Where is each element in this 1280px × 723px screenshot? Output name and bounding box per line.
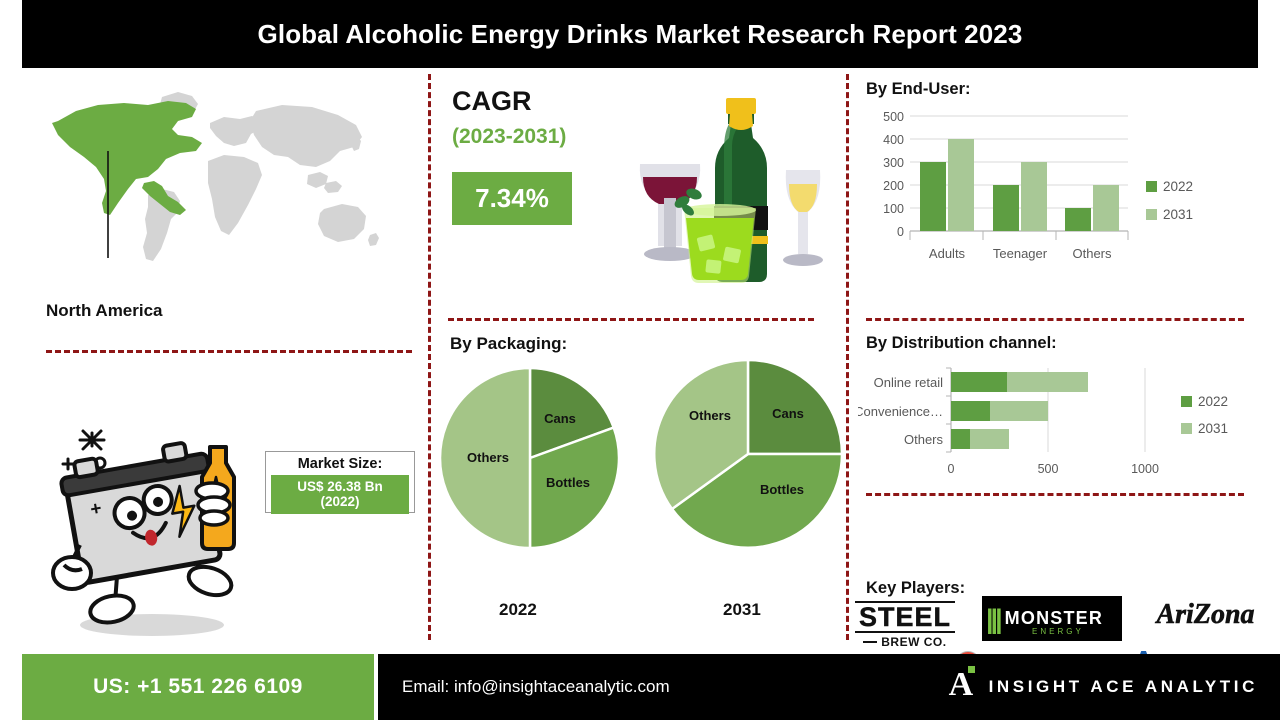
horizontal-divider-left xyxy=(46,350,412,353)
dist-legend-label-2022: 2022 xyxy=(1198,394,1228,409)
pie-2031-label-cans: Cans xyxy=(772,406,804,421)
dist-bar-online-2031 xyxy=(1007,372,1088,392)
pie-2031-label-others: Others xyxy=(689,408,731,423)
footer-email: Email: info@insightaceanalytic.com xyxy=(402,677,670,697)
market-size-value: US$ 26.38 Bn (2022) xyxy=(271,475,409,514)
brand-dot-icon xyxy=(968,666,975,673)
market-size-amount: US$ 26.38 Bn xyxy=(297,479,383,494)
footer-brand: A INSIGHT ACE ANALYTIC xyxy=(949,668,1258,706)
alcoholic-drinks-icon xyxy=(620,78,835,308)
vertical-divider-left xyxy=(428,74,431,640)
end-user-ytick-100: 100 xyxy=(883,202,904,216)
infographic-body: North America xyxy=(0,68,1280,654)
end-user-category-teenager: Teenager xyxy=(993,246,1048,261)
end-user-bar-adults-2031 xyxy=(948,139,974,231)
dist-bar-others-2022 xyxy=(951,429,970,449)
end-user-bar-teenager-2022 xyxy=(993,185,1019,231)
end-user-category-others: Others xyxy=(1072,246,1112,261)
packaging-2031-pie-chart: Cans Bottles Others xyxy=(652,358,844,550)
dist-bar-online-2022 xyxy=(951,372,1007,392)
logo-steel-name: STEEL xyxy=(855,601,955,633)
packaging-2031-year: 2031 xyxy=(723,600,761,620)
dist-xtick-0: 0 xyxy=(948,462,955,476)
dist-legend-swatch-2022 xyxy=(1181,396,1192,407)
logo-arizona-name: AriZona xyxy=(1138,599,1273,631)
pie-2022-label-others: Others xyxy=(467,450,509,465)
infographic-page: Global Alcoholic Energy Drinks Market Re… xyxy=(0,0,1280,720)
region-label: North America xyxy=(46,301,163,321)
dist-category-others: Others xyxy=(904,432,944,447)
dist-bar-convenience-2031 xyxy=(990,401,1048,421)
pie-2031-label-bottles: Bottles xyxy=(760,482,804,497)
end-user-legend-swatch-2022 xyxy=(1146,181,1157,192)
pie-2022-label-cans: Cans xyxy=(544,411,576,426)
page-title: Global Alcoholic Energy Drinks Market Re… xyxy=(258,19,1023,50)
dist-xtick-500: 500 xyxy=(1038,462,1059,476)
end-user-bar-others-2022 xyxy=(1065,208,1091,231)
world-map-icon xyxy=(40,83,400,283)
dist-legend-label-2031: 2031 xyxy=(1198,421,1228,436)
cagr-label: CAGR xyxy=(452,86,532,117)
end-user-ytick-400: 400 xyxy=(883,133,904,147)
cagr-value-badge: 7.34% xyxy=(452,172,572,225)
insight-ace-logo-icon: A xyxy=(949,668,975,706)
market-size-card: Market Size: US$ 26.38 Bn (2022) xyxy=(265,451,415,513)
footer-phone: US: +1 551 226 6109 xyxy=(22,654,374,720)
logo-monster-sub: ENERGY xyxy=(1032,627,1084,636)
end-user-ytick-0: 0 xyxy=(897,225,904,239)
packaging-section-title: By Packaging: xyxy=(450,334,567,354)
horizontal-divider-middle xyxy=(448,318,814,321)
end-user-legend-label-2031: 2031 xyxy=(1163,207,1193,222)
end-user-category-adults: Adults xyxy=(929,246,966,261)
end-user-ytick-300: 300 xyxy=(883,156,904,170)
dist-bar-others-2031 xyxy=(970,429,1009,449)
logo-arizona: AriZona xyxy=(1138,599,1273,631)
packaging-2022-year: 2022 xyxy=(499,600,537,620)
cagr-period: (2023-2031) xyxy=(452,125,566,149)
dist-category-convenience: Convenience… xyxy=(858,404,943,419)
vertical-divider-right xyxy=(846,74,849,640)
monster-claw-icon: ||| xyxy=(986,609,1000,629)
pie-2022-label-bottles: Bottles xyxy=(546,475,590,490)
market-size-year: (2022) xyxy=(320,494,359,509)
end-user-legend-swatch-2031 xyxy=(1146,209,1157,220)
end-user-bar-teenager-2031 xyxy=(1021,162,1047,231)
market-size-title: Market Size: xyxy=(266,456,414,472)
dist-legend-swatch-2031 xyxy=(1181,423,1192,434)
end-user-legend-label-2022: 2022 xyxy=(1163,179,1193,194)
brand-name: INSIGHT ACE ANALYTIC xyxy=(989,677,1258,697)
distribution-channel-bar-chart: Online retail Convenience… Others 0 500 … xyxy=(858,360,1256,490)
battery-character-icon: + xyxy=(44,413,259,643)
end-user-bar-others-2031 xyxy=(1093,185,1119,231)
horizontal-divider-right-top xyxy=(866,318,1244,321)
dist-category-online-retail: Online retail xyxy=(874,375,943,390)
horizontal-divider-right-bottom xyxy=(866,493,1244,496)
dist-bar-convenience-2022 xyxy=(951,401,990,421)
page-footer: US: +1 551 226 6109 Email: info@insighta… xyxy=(0,654,1280,720)
packaging-2022-pie-chart: Cans Bottles Others xyxy=(438,366,623,551)
footer-contact-bar: Email: info@insightaceanalytic.com A INS… xyxy=(378,654,1280,720)
end-user-ytick-200: 200 xyxy=(883,179,904,193)
logo-monster-name: MONSTER xyxy=(1005,608,1103,629)
end-user-section-title: By End-User: xyxy=(866,80,971,99)
end-user-ytick-500: 500 xyxy=(883,110,904,124)
distribution-section-title: By Distribution channel: xyxy=(866,334,1057,353)
logo-monster-energy: ||| MONSTER ENERGY xyxy=(982,596,1122,641)
page-header: Global Alcoholic Energy Drinks Market Re… xyxy=(22,0,1258,68)
dist-xtick-1000: 1000 xyxy=(1131,462,1159,476)
end-user-bar-adults-2022 xyxy=(920,162,946,231)
end-user-bar-chart: 500 400 300 200 100 0 xyxy=(858,108,1248,303)
